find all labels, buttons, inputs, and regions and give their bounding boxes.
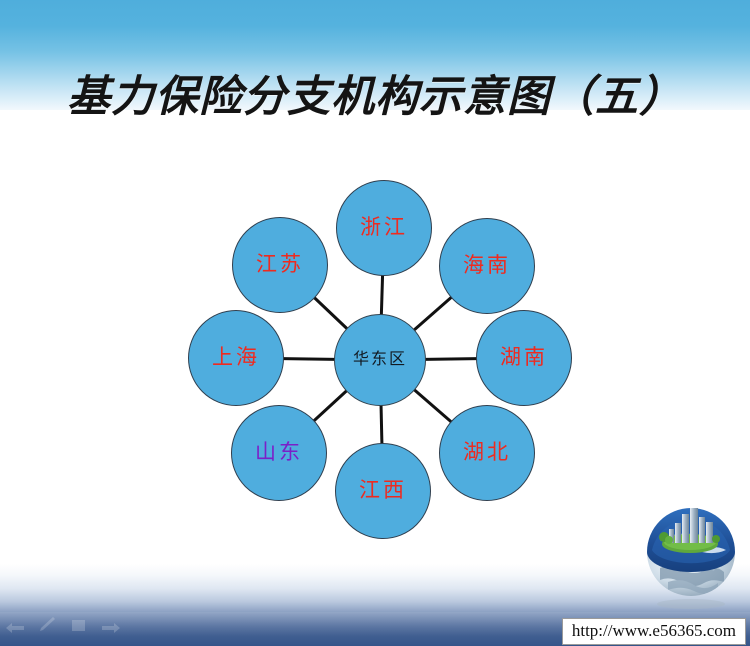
connector-hub-to-浙江 xyxy=(381,275,382,315)
connector-hub-to-上海 xyxy=(283,359,335,360)
slide-canvas: 基力保险分支机构示意图（五） 浙江海南湖南湖北江西山东上海江苏华东区 xyxy=(0,0,750,646)
node-label: 江苏 xyxy=(256,254,304,275)
connector-hub-to-湖南 xyxy=(425,359,477,360)
diagram-node-江苏[interactable]: 江苏 xyxy=(232,217,328,313)
diagram-hub-node[interactable]: 华东区 xyxy=(334,314,426,406)
connector-hub-to-江西 xyxy=(381,405,382,444)
node-label: 湖南 xyxy=(500,347,548,368)
node-label: 浙江 xyxy=(360,217,408,238)
connector-hub-to-海南 xyxy=(414,297,452,330)
diagram-node-湖南[interactable]: 湖南 xyxy=(476,310,572,406)
connector-hub-to-湖北 xyxy=(414,390,452,423)
watermark-url: http://www.e56365.com xyxy=(562,618,746,645)
node-label: 山东 xyxy=(255,442,303,463)
connector-hub-to-江苏 xyxy=(314,297,347,329)
globe-city-logo xyxy=(638,506,744,610)
diagram-node-山东[interactable]: 山东 xyxy=(231,405,327,501)
connector-hub-to-山东 xyxy=(314,390,347,421)
node-label: 湖北 xyxy=(463,442,511,463)
diagram-node-江西[interactable]: 江西 xyxy=(335,443,431,539)
node-label: 上海 xyxy=(212,347,260,368)
diagram-node-海南[interactable]: 海南 xyxy=(439,218,535,314)
node-label: 江西 xyxy=(359,480,407,501)
diagram-node-湖北[interactable]: 湖北 xyxy=(439,405,535,501)
diagram-node-上海[interactable]: 上海 xyxy=(188,310,284,406)
node-label: 海南 xyxy=(463,255,511,276)
diagram-node-浙江[interactable]: 浙江 xyxy=(336,180,432,276)
node-label: 华东区 xyxy=(353,351,407,367)
